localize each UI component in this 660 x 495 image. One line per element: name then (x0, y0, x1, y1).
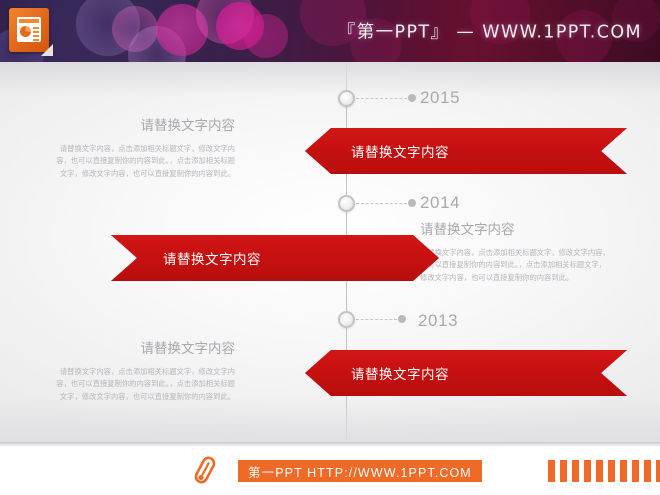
timeline-node-icon[interactable] (338, 195, 355, 212)
timeline-text-body: 请替换文字内容，点击添加相关标题文字，修改文字内容，也可以直接复制你的内容到此。… (55, 143, 235, 181)
slide-header: 『第一PPT』 — WWW.1PPT.COM (0, 0, 660, 62)
timeline-ribbon-2013[interactable]: 请替换文字内容 (305, 350, 627, 396)
timeline-year-2013: 2013 (418, 311, 458, 331)
timeline-connector-dot-icon (398, 315, 406, 323)
timeline-text-title: 请替换文字内容 (420, 222, 610, 240)
slide-canvas: 『第一PPT』 — WWW.1PPT.COM 2015 请替换文字内容 请替换文… (0, 0, 660, 495)
timeline-year-2015: 2015 (420, 88, 460, 108)
footer-divider (0, 442, 660, 447)
timeline-text-body: 请替换文字内容，点击添加相关标题文字，修改文字内容，也可以直接复制你的内容到此。… (420, 247, 610, 285)
footer-url-text: 第一PPT HTTP://WWW.1PPT.COM (248, 462, 472, 481)
logo-doc-titlebar (19, 19, 39, 23)
bokeh-circle (156, 4, 208, 56)
timeline-text-title: 请替换文字内容 (55, 341, 235, 359)
timeline-ribbon-2015[interactable]: 请替换文字内容 (305, 128, 627, 174)
bokeh-circle (216, 2, 264, 50)
timeline-ribbon-label: 请替换文字内容 (351, 141, 449, 161)
barcode-stripes-icon (548, 460, 660, 482)
timeline-node-icon[interactable] (338, 311, 355, 328)
header-title: 『第一PPT』 — WWW.1PPT.COM (338, 19, 642, 44)
pencil-icon (192, 455, 218, 485)
timeline-text-block-2013: 请替换文字内容 请替换文字内容，点击添加相关标题文字，修改文字内容，也可以直接复… (55, 341, 235, 403)
timeline-connector-dot-icon (408, 199, 416, 207)
logo-pie-chart-icon (20, 26, 31, 37)
bokeh-circle (128, 26, 186, 62)
bokeh-circle (196, 0, 254, 44)
logo-document (17, 17, 41, 42)
timeline-connector (356, 98, 412, 99)
timeline-node-icon[interactable] (338, 90, 355, 107)
timeline-ribbon-label: 请替换文字内容 (351, 363, 449, 383)
timeline-ribbon-2014[interactable]: 请替换文字内容 (111, 235, 439, 281)
bokeh-circle (76, 0, 140, 56)
bokeh-circle (244, 14, 288, 58)
timeline-text-body: 请替换文字内容，点击添加相关标题文字，修改文字内容，也可以直接复制你的内容到此。… (55, 366, 235, 404)
timeline-connector (356, 203, 412, 204)
timeline-text-block-2015: 请替换文字内容 请替换文字内容，点击添加相关标题文字，修改文字内容，也可以直接复… (55, 118, 235, 180)
bokeh-circle (112, 6, 158, 52)
logo-text-line (33, 27, 39, 29)
timeline-year-2014: 2014 (420, 193, 460, 213)
timeline-text-title: 请替换文字内容 (55, 118, 235, 136)
timeline-ribbon-label: 请替换文字内容 (163, 248, 261, 268)
timeline-connector-dot-icon (408, 94, 416, 102)
logo-text-line (33, 35, 39, 37)
timeline-connector (356, 319, 402, 320)
logo-text-line (33, 31, 39, 33)
timeline-text-block-2014: 请替换文字内容 请替换文字内容，点击添加相关标题文字，修改文字内容，也可以直接复… (420, 222, 610, 284)
logo-text-line (33, 39, 39, 41)
powerpoint-logo-icon (9, 8, 49, 52)
footer-url-bar[interactable]: 第一PPT HTTP://WWW.1PPT.COM (238, 460, 482, 482)
